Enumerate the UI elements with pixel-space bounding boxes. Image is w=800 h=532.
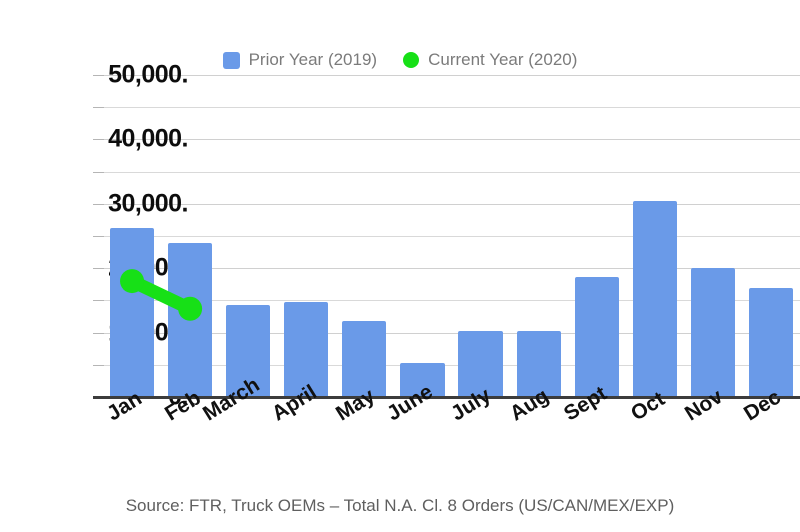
x-axis-labels: JanFebMarchAprilMayJuneJulyAugSeptOctNov… <box>103 400 800 470</box>
y-axis-tick <box>93 365 104 366</box>
y-axis-tick <box>93 107 104 108</box>
y-axis-tick <box>93 268 104 269</box>
chart-caption: Source: FTR, Truck OEMs – Total N.A. Cl.… <box>0 496 800 516</box>
bar-series-prior-year <box>103 40 800 398</box>
bar[interactable] <box>575 277 619 397</box>
y-axis-tick <box>93 172 104 173</box>
y-axis-tick <box>93 204 104 205</box>
y-axis-tick <box>93 300 104 301</box>
plot-area: 0.10,000.20,000.30,000.40,000.50,000. <box>103 40 800 398</box>
bar[interactable] <box>110 228 154 397</box>
bar[interactable] <box>691 268 735 397</box>
y-axis-tick <box>93 236 104 237</box>
bar[interactable] <box>633 201 677 397</box>
chart-container: Prior Year (2019) Current Year (2020) 0.… <box>0 0 800 532</box>
y-axis-tick <box>93 333 104 334</box>
bar[interactable] <box>168 243 212 397</box>
y-axis-tick <box>93 75 104 76</box>
y-axis-tick <box>93 139 104 140</box>
bar[interactable] <box>749 288 793 397</box>
